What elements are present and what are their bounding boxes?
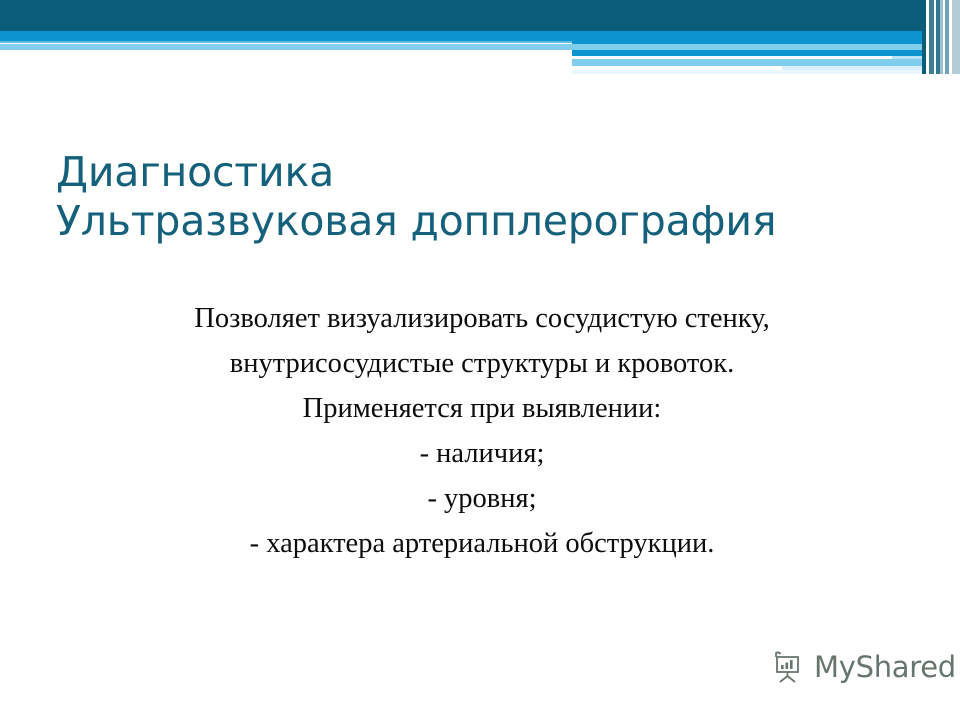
header-ext-light-stripe bbox=[572, 59, 960, 66]
myshared-watermark: MyShared bbox=[771, 650, 956, 684]
presentation-chart-easel-icon bbox=[771, 650, 805, 684]
body-line-6: - характера артериальной обструкции. bbox=[56, 521, 908, 566]
header-band-dark-teal bbox=[0, 0, 960, 31]
body-line-3: Применяется при выявлении: bbox=[56, 386, 908, 431]
body-line-1: Позволяет визуализировать сосудистую сте… bbox=[56, 296, 908, 341]
decorative-header-band bbox=[0, 0, 960, 80]
slide-body: Позволяет визуализировать сосудистую сте… bbox=[56, 296, 908, 566]
body-line-2: внутрисосудистые структуры и кровоток. bbox=[56, 341, 908, 386]
body-line-5: - уровня; bbox=[56, 476, 908, 521]
slide-title: Диагностика Ультразвуковая допплерографи… bbox=[56, 148, 916, 246]
slide-canvas: Диагностика Ультразвуковая допплерографи… bbox=[0, 0, 960, 720]
myshared-watermark-text: MyShared bbox=[814, 653, 956, 682]
vertical-stripe bbox=[952, 0, 960, 74]
header-vertical-stripes bbox=[922, 0, 960, 74]
header-ext-pale-stripe-3 bbox=[572, 70, 960, 74]
body-line-4: - наличия; bbox=[56, 431, 908, 476]
